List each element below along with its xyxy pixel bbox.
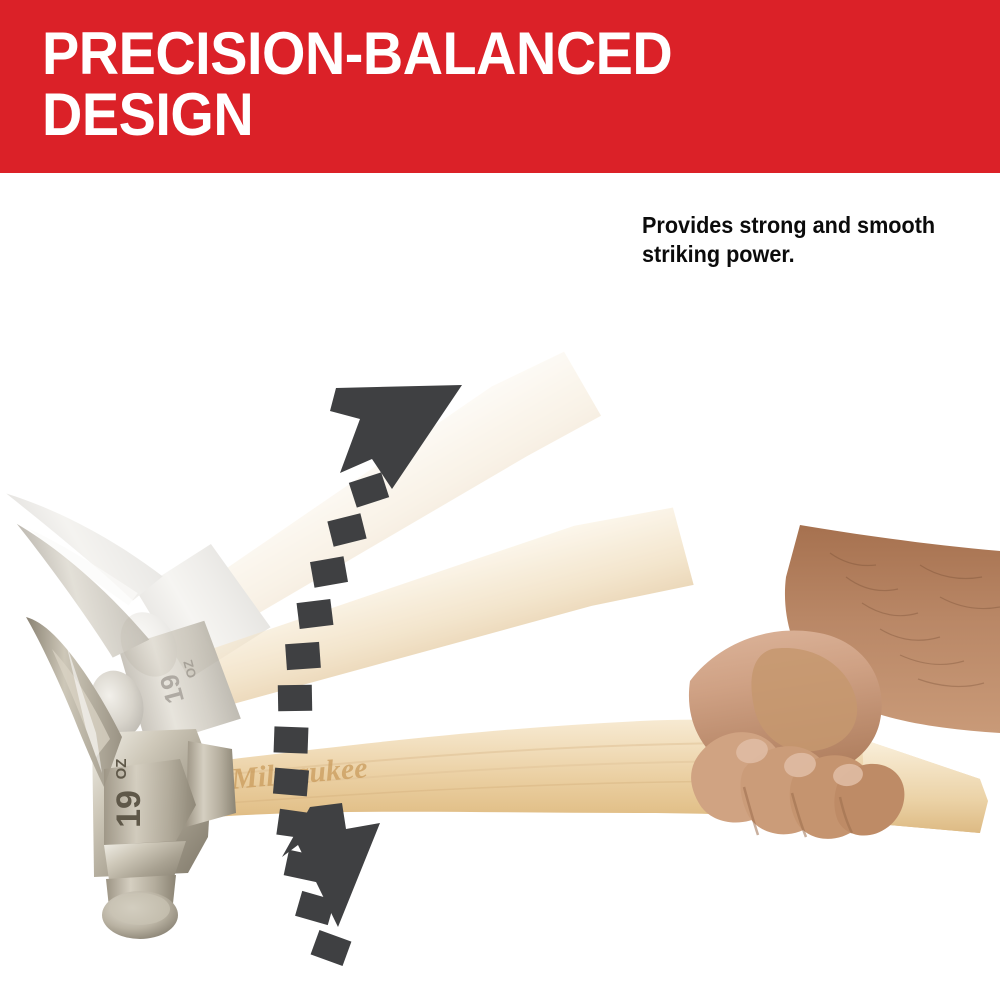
striking-face-inner: [110, 893, 170, 925]
hammer-head-collar: [186, 741, 236, 827]
arc-dash: [273, 768, 309, 797]
arc-dash: [278, 685, 312, 712]
arc-dash: [311, 930, 352, 966]
page-title: PRECISION-BALANCED DESIGN: [42, 23, 898, 145]
arc-dash: [285, 642, 321, 670]
arc-dash: [297, 599, 334, 629]
feature-card: PRECISION-BALANCED DESIGN Provides stron…: [0, 0, 1000, 1000]
header-banner: PRECISION-BALANCED DESIGN: [0, 0, 1000, 173]
head-weight-value: 19: [110, 790, 148, 828]
head-weight-unit: OZ: [113, 759, 130, 780]
arc-dash: [274, 726, 309, 753]
product-illustration: 19 OZ Milwaukee: [0, 173, 1000, 1000]
